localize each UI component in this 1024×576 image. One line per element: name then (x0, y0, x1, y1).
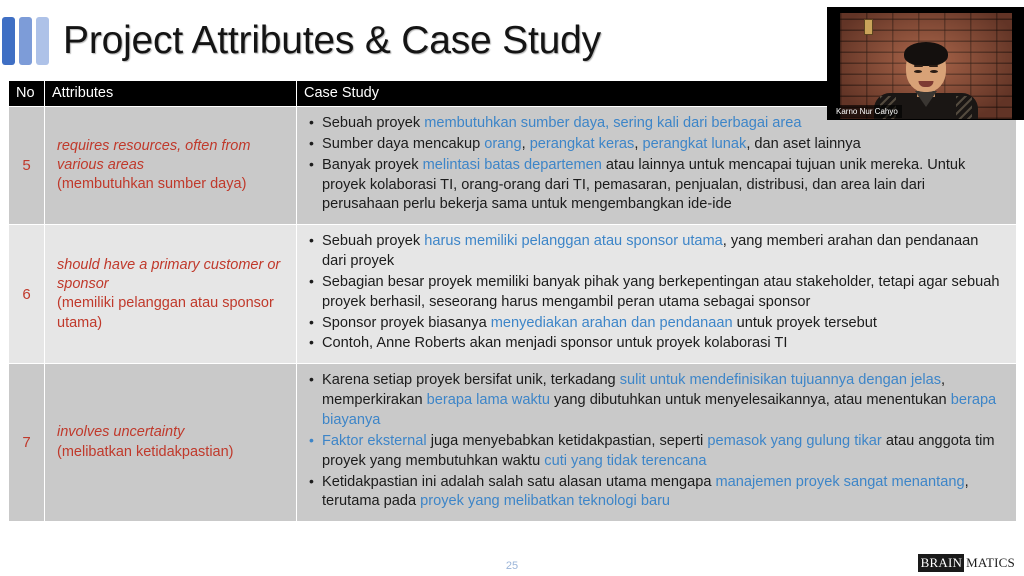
case-study-cell: Sebuah proyek membutuhkan sumber daya, s… (297, 107, 1017, 225)
attribute-english: involves uncertainty (57, 423, 286, 442)
case-study-bullet: Banyak proyek melintasi batas departemen… (307, 156, 1006, 216)
table-row: 5requires resources, often from various … (9, 107, 1017, 225)
plain-phrase: Banyak proyek (322, 157, 423, 173)
plain-phrase: Sumber daya mencakup (322, 136, 484, 152)
accent-block-3 (36, 17, 49, 65)
page-title: Project Attributes & Case Study (63, 19, 601, 63)
highlighted-phrase: cuti yang tidak terencana (544, 453, 706, 469)
webcam-overlay[interactable]: Karno Nur Cahyo (828, 8, 1024, 119)
participant-mouth (919, 81, 934, 87)
participant-eye-right (930, 70, 938, 73)
logo-dark-part: BRAIN (918, 554, 964, 572)
attribute-cell: should have a primary customer or sponso… (45, 225, 297, 364)
row-number-cell: 6 (9, 225, 45, 364)
participant-name-label: Karno Nur Cahyo (832, 105, 902, 118)
row-number-cell: 5 (9, 107, 45, 225)
accent-block-2 (19, 17, 32, 65)
plain-phrase: Contoh, Anne Roberts akan menjadi sponso… (322, 335, 787, 351)
case-study-bullet: Faktor eksternal juga menyebabkan ketida… (307, 432, 1006, 472)
column-header-no: No (9, 81, 45, 107)
attribute-indonesian: (membutuhkan sumber daya) (57, 175, 286, 194)
accent-blocks (2, 17, 49, 65)
highlighted-phrase: Faktor eksternal (322, 433, 427, 449)
highlighted-phrase: menyediakan arahan dan pendanaan (491, 315, 733, 331)
highlighted-phrase: melintasi batas departemen (423, 157, 602, 173)
case-study-bullet: Sponsor proyek biasanya menyediakan arah… (307, 314, 1006, 334)
highlighted-phrase: membutuhkan sumber daya, sering kali dar… (424, 115, 801, 131)
plain-phrase: untuk proyek tersebut (733, 315, 877, 331)
participant-eye-left (914, 70, 922, 73)
attribute-indonesian: (memiliki pelanggan atau sponsor utama) (57, 294, 286, 333)
case-study-bullet: Sumber daya mencakup orang, perangkat ke… (307, 135, 1006, 155)
table-row: 6should have a primary customer or spons… (9, 225, 1017, 364)
highlighted-phrase: proyek yang melibatkan teknologi baru (420, 493, 670, 509)
slide: Project Attributes & Case Study No Attri… (0, 0, 1024, 576)
case-study-bullet: Karena setiap proyek bersifat unik, terk… (307, 371, 1006, 431)
wall-picture-frame (864, 19, 873, 35)
row-number-cell: 7 (9, 364, 45, 522)
plain-phrase: Sebagian besar proyek memiliki banyak pi… (322, 274, 999, 310)
plain-phrase: , (522, 136, 530, 152)
plain-phrase: Sebuah proyek (322, 115, 424, 131)
attribute-english: requires resources, often from various a… (57, 137, 286, 176)
highlighted-phrase: sulit untuk mendefinisikan tujuannya den… (620, 372, 941, 388)
case-study-cell: Sebuah proyek harus memiliki pelanggan a… (297, 225, 1017, 364)
case-study-bullet: Contoh, Anne Roberts akan menjadi sponso… (307, 334, 1006, 354)
participant-hair (904, 42, 948, 66)
brainmatics-logo: BRAIN MATICS (918, 554, 1018, 572)
case-study-bullet-list: Sebuah proyek harus memiliki pelanggan a… (307, 232, 1006, 354)
attribute-cell: requires resources, often from various a… (45, 107, 297, 225)
highlighted-phrase: pemasok yang gulung tikar (707, 433, 881, 449)
participant-eyebrow-left (914, 65, 923, 67)
plain-phrase: Karena setiap proyek bersifat unik, terk… (322, 372, 620, 388)
case-study-bullet: Sebuah proyek harus memiliki pelanggan a… (307, 232, 1006, 272)
plain-phrase: juga menyebabkan ketidakpastian, seperti (427, 433, 708, 449)
highlighted-phrase: manajemen proyek sangat menantang (716, 474, 965, 490)
plain-phrase: , dan aset lainnya (746, 136, 860, 152)
attribute-indonesian: (melibatkan ketidakpastian) (57, 443, 286, 462)
plain-phrase: yang dibutuhkan untuk menyelesaikannya, … (550, 392, 951, 408)
logo-light-part: MATICS (964, 554, 1018, 572)
plain-phrase: Ketidakpastian ini adalah salah satu ala… (322, 474, 716, 490)
attributes-table: No Attributes Case Study 5requires resou… (8, 80, 1017, 522)
attribute-english: should have a primary customer or sponso… (57, 256, 286, 295)
table-row: 7involves uncertainty(melibatkan ketidak… (9, 364, 1017, 522)
attribute-cell: involves uncertainty(melibatkan ketidakp… (45, 364, 297, 522)
column-header-attributes: Attributes (45, 81, 297, 107)
highlighted-phrase: orang (484, 136, 521, 152)
plain-phrase: Sponsor proyek biasanya (322, 315, 491, 331)
title-bar: Project Attributes & Case Study (0, 10, 601, 72)
highlighted-phrase: perangkat keras (530, 136, 635, 152)
case-study-bullet: Sebagian besar proyek memiliki banyak pi… (307, 273, 1006, 313)
case-study-cell: Karena setiap proyek bersifat unik, terk… (297, 364, 1017, 522)
highlighted-phrase: perangkat lunak (642, 136, 746, 152)
participant-eyebrow-right (929, 65, 938, 67)
plain-phrase: Sebuah proyek (322, 233, 424, 249)
highlighted-phrase: berapa lama waktu (427, 392, 550, 408)
page-number: 25 (506, 560, 518, 572)
webcam-video (840, 13, 1012, 119)
accent-block-1 (2, 17, 15, 65)
case-study-bullet-list: Karena setiap proyek bersifat unik, terk… (307, 371, 1006, 512)
participant-head (906, 45, 946, 92)
highlighted-phrase: harus memiliki pelanggan atau sponsor ut… (424, 233, 723, 249)
table-body: 5requires resources, often from various … (9, 107, 1017, 522)
case-study-bullet-list: Sebuah proyek membutuhkan sumber daya, s… (307, 114, 1006, 215)
case-study-bullet: Ketidakpastian ini adalah salah satu ala… (307, 473, 1006, 513)
